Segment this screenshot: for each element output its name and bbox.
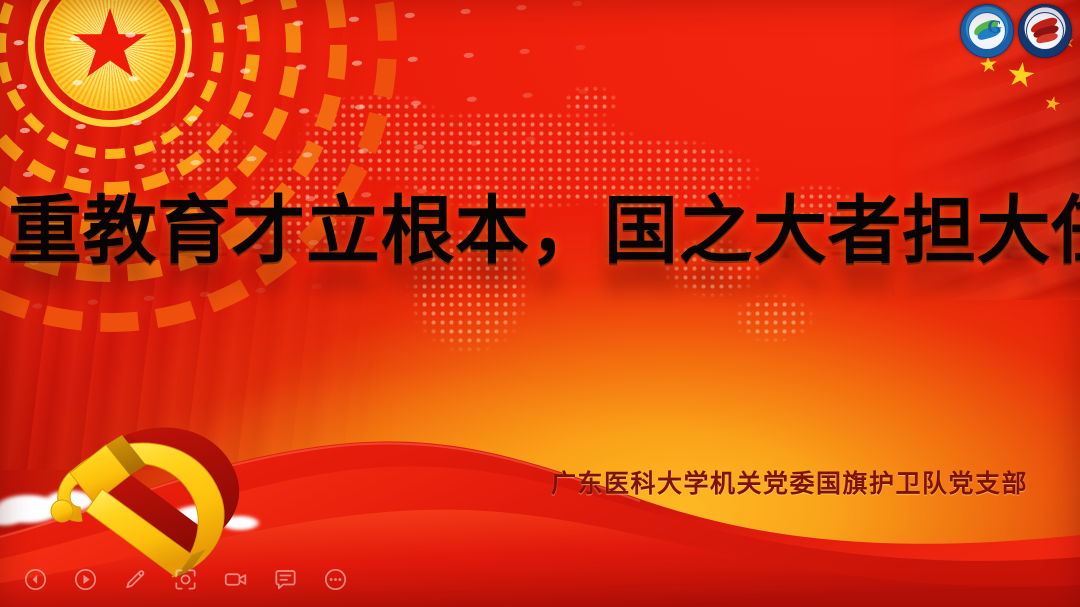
gdmu-logo[interactable]: G	[960, 4, 1014, 58]
flag-guard-logo-inner	[1026, 12, 1064, 50]
slide-subtitle: 广东医科大学机关党委国旗护卫队党支部	[551, 464, 1028, 500]
slide-title: 重教育才立根本，国之大者担大任	[8, 194, 1068, 268]
gdmu-g-letter-icon: G	[987, 18, 1002, 37]
comment-icon[interactable]	[272, 566, 299, 593]
video-camera-icon[interactable]	[222, 566, 249, 593]
play-circle-icon[interactable]	[72, 566, 99, 593]
pencil-icon[interactable]	[122, 566, 149, 593]
scan-frame-icon[interactable]	[172, 566, 199, 593]
back-circle-icon[interactable]	[22, 566, 49, 593]
more-dots-icon[interactable]	[322, 566, 349, 593]
sickle-knob	[51, 500, 73, 522]
flag-guard-logo[interactable]	[1018, 4, 1072, 58]
light-speckles-decoration	[0, 0, 651, 352]
gdmu-logo-inner: G	[968, 12, 1006, 50]
presentation-slide: G 重教育才立根本，国之大者担大任 重教育才立根本，国之大者担大任 广东医科大学…	[0, 0, 1080, 607]
bottom-toolbar[interactable]	[22, 566, 349, 593]
logo-group: G	[960, 4, 1072, 58]
